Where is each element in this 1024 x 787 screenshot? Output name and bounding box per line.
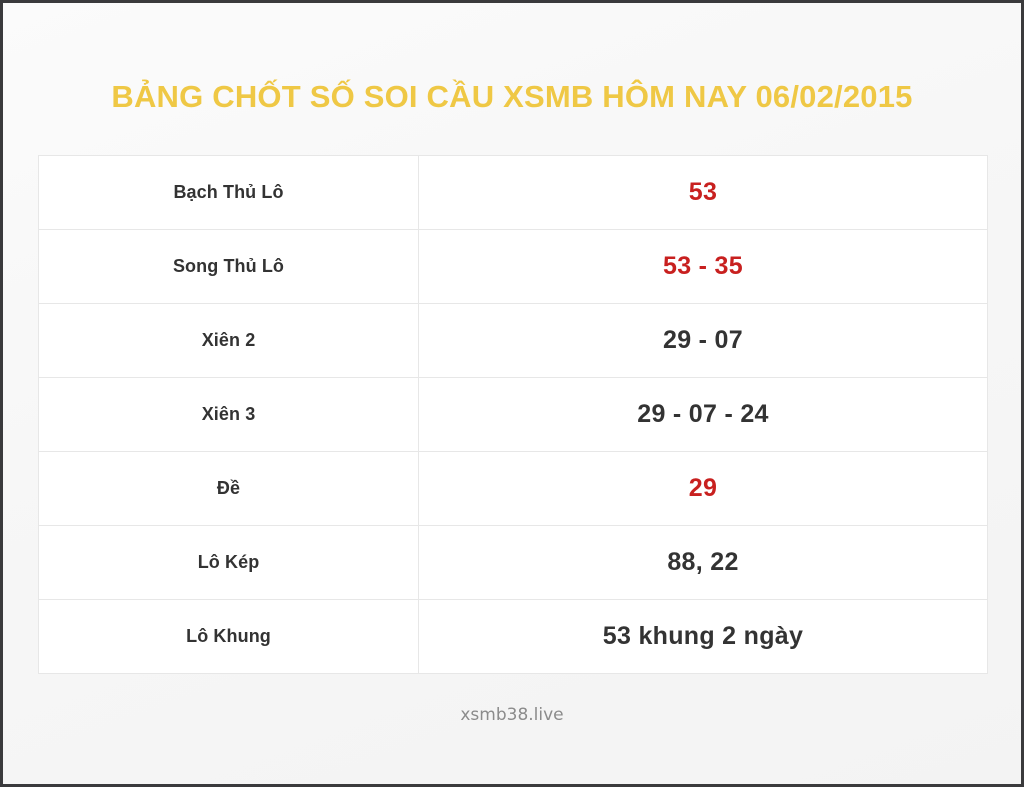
table-row: Song Thủ Lô53 - 35: [39, 230, 987, 304]
row-label: Lô Khung: [39, 600, 419, 673]
page-frame: BẢNG CHỐT SỐ SOI CẦU XSMB HÔM NAY 06/02/…: [3, 3, 1021, 784]
row-value: 29 - 07 - 24: [419, 378, 987, 451]
row-label: Bạch Thủ Lô: [39, 156, 419, 229]
row-value: 53 khung 2 ngày: [419, 600, 987, 673]
row-value: 53: [419, 156, 987, 229]
page-title: BẢNG CHỐT SỐ SOI CẦU XSMB HÔM NAY 06/02/…: [3, 79, 1021, 115]
footer-site-label: xsmb38.live: [3, 705, 1021, 725]
row-value: 29: [419, 452, 987, 525]
row-value: 29 - 07: [419, 304, 987, 377]
row-label: Đề: [39, 452, 419, 525]
table-row: Xiên 229 - 07: [39, 304, 987, 378]
row-label: Lô Kép: [39, 526, 419, 599]
row-label: Xiên 2: [39, 304, 419, 377]
table-row: Lô Khung53 khung 2 ngày: [39, 600, 987, 674]
prediction-table: Bạch Thủ Lô53Song Thủ Lô53 - 35Xiên 229 …: [38, 155, 988, 674]
row-value: 53 - 35: [419, 230, 987, 303]
table-row: Đề29: [39, 452, 987, 526]
table-row: Xiên 329 - 07 - 24: [39, 378, 987, 452]
row-label: Xiên 3: [39, 378, 419, 451]
table-row: Bạch Thủ Lô53: [39, 156, 987, 230]
table-row: Lô Kép88, 22: [39, 526, 987, 600]
row-value: 88, 22: [419, 526, 987, 599]
row-label: Song Thủ Lô: [39, 230, 419, 303]
